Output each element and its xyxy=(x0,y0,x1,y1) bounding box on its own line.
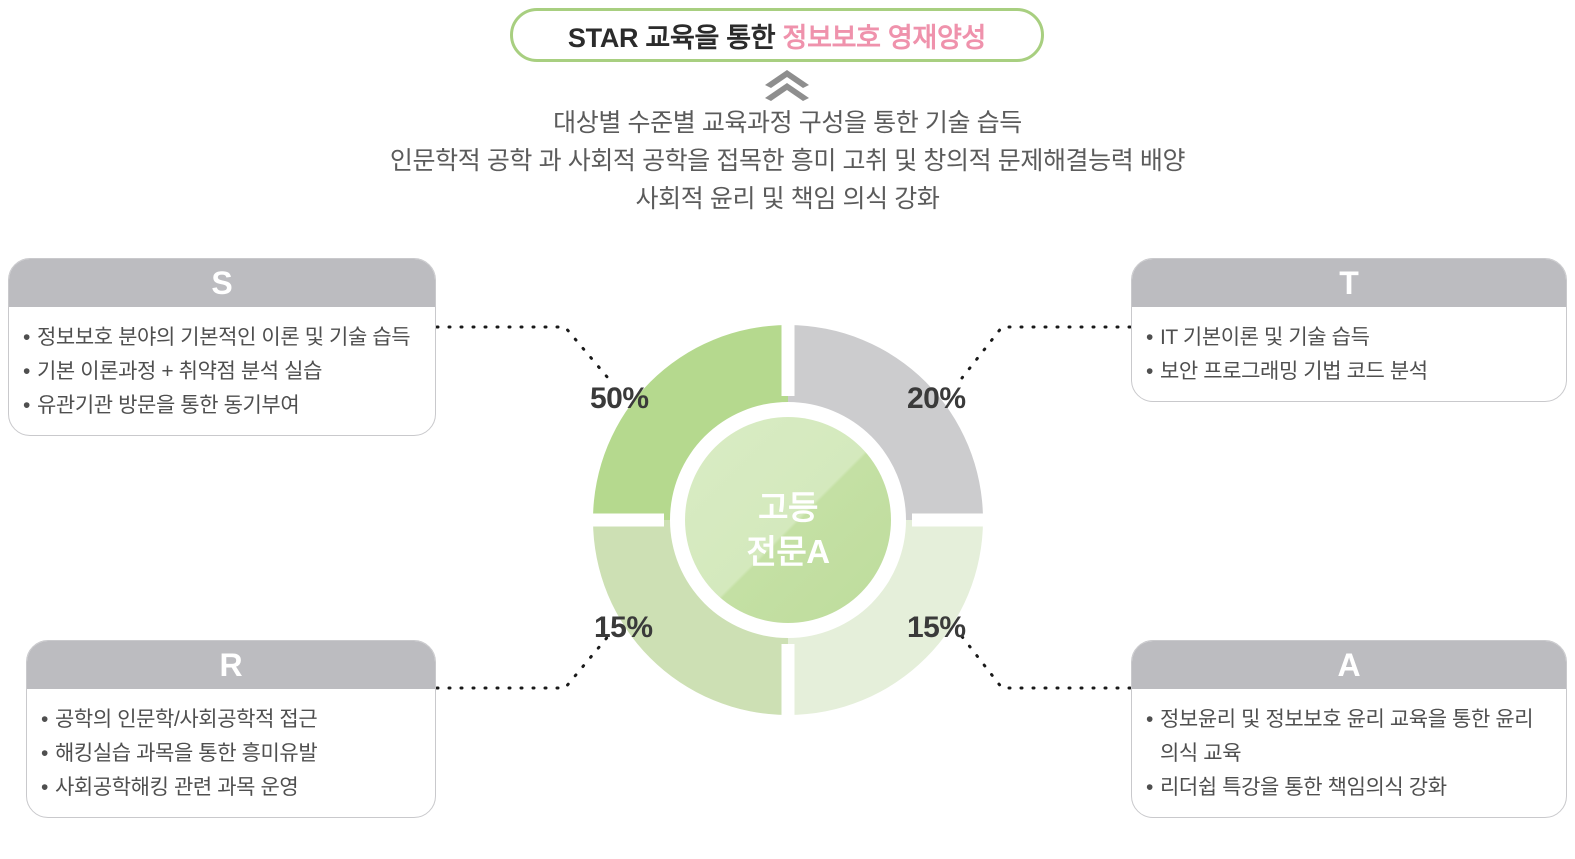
list-item: • 기본 이론과정 + 취약점 분석 실습 xyxy=(23,355,419,389)
donut-label-top-left: 50% xyxy=(590,382,649,416)
list-item: • 해킹실습 과목을 통한 흥미유발 xyxy=(41,737,419,771)
card-a-body: • 정보윤리 및 정보보호 윤리 교육을 통한 윤리의식 교육 • 리더쉽 특강… xyxy=(1132,689,1566,817)
card-s-bullet-3: 유관기관 방문을 통한 동기부여 xyxy=(37,389,419,423)
donut-center-line-1: 고등 xyxy=(688,486,888,530)
donut-center-line-2: 전문A xyxy=(688,530,888,574)
donut-label-bottom-right: 15% xyxy=(907,611,966,645)
chevron-up-double-icon xyxy=(762,68,812,102)
card-s-header: S xyxy=(9,259,435,307)
page-title-primary: STAR 교육을 통한 xyxy=(568,23,783,53)
list-item: • 유관기관 방문을 통한 동기부여 xyxy=(23,389,419,423)
page-title-highlight: 정보보호 영재양성 xyxy=(783,23,987,53)
bullet-icon: • xyxy=(1146,703,1160,737)
list-item: • 공학의 인문학/사회공학적 접근 xyxy=(41,703,419,737)
card-r-bullet-3: 사회공학해킹 관련 과목 운영 xyxy=(55,771,419,805)
donut-label-top-right: 20% xyxy=(907,382,966,416)
card-s-bullet-2: 기본 이론과정 + 취약점 분석 실습 xyxy=(37,355,419,389)
card-s-letter: S xyxy=(211,267,232,299)
bullet-icon: • xyxy=(23,321,37,355)
subtitle-line-3: 사회적 윤리 및 책임 의식 강화 xyxy=(0,180,1575,218)
card-t-bullet-2: 보안 프로그래밍 기법 코드 분석 xyxy=(1160,355,1550,389)
list-item: • IT 기본이론 및 기술 습득 xyxy=(1146,321,1550,355)
card-t-header: T xyxy=(1132,259,1566,307)
card-a[interactable]: A • 정보윤리 및 정보보호 윤리 교육을 통한 윤리의식 교육 • 리더쉽 … xyxy=(1131,640,1567,818)
bullet-icon: • xyxy=(1146,355,1160,389)
card-a-header: A xyxy=(1132,641,1566,689)
card-a-letter: A xyxy=(1337,649,1360,681)
card-t[interactable]: T • IT 기본이론 및 기술 습득 • 보안 프로그래밍 기법 코드 분석 xyxy=(1131,258,1567,402)
bullet-icon: • xyxy=(41,737,55,771)
card-r-letter: R xyxy=(219,649,242,681)
card-a-bullet-1: 정보윤리 및 정보보호 윤리 교육을 통한 윤리의식 교육 xyxy=(1160,703,1550,771)
bullet-icon: • xyxy=(23,389,37,423)
card-r-header: R xyxy=(27,641,435,689)
card-s-body: • 정보보호 분야의 기본적인 이론 및 기술 습득 • 기본 이론과정 + 취… xyxy=(9,307,435,435)
subtitle-line-2: 인문학적 공학 과 사회적 공학을 접목한 흥미 고취 및 창의적 문제해결능력… xyxy=(0,142,1575,180)
bullet-icon: • xyxy=(23,355,37,389)
card-r-bullet-2: 해킹실습 과목을 통한 흥미유발 xyxy=(55,737,419,771)
list-item: • 리더쉽 특강을 통한 책임의식 강화 xyxy=(1146,771,1550,805)
list-item: • 사회공학해킹 관련 과목 운영 xyxy=(41,771,419,805)
subtitle-block: 대상별 수준별 교육과정 구성을 통한 기술 습득 인문학적 공학 과 사회적 … xyxy=(0,104,1575,218)
list-item: • 보안 프로그래밍 기법 코드 분석 xyxy=(1146,355,1550,389)
card-t-letter: T xyxy=(1339,267,1359,299)
subtitle-line-1: 대상별 수준별 교육과정 구성을 통한 기술 습득 xyxy=(0,104,1575,142)
card-t-body: • IT 기본이론 및 기술 습득 • 보안 프로그래밍 기법 코드 분석 xyxy=(1132,307,1566,401)
card-t-bullet-1: IT 기본이론 및 기술 습득 xyxy=(1160,321,1550,355)
card-s-bullet-1: 정보보호 분야의 기본적인 이론 및 기술 습득 xyxy=(37,321,419,355)
page-title: STAR 교육을 통한 정보보호 영재양성 xyxy=(568,16,986,55)
card-a-bullet-2: 리더쉽 특강을 통한 책임의식 강화 xyxy=(1160,771,1550,805)
bullet-icon: • xyxy=(1146,321,1160,355)
donut-label-bottom-left: 15% xyxy=(594,611,653,645)
bullet-icon: • xyxy=(41,703,55,737)
list-item: • 정보보호 분야의 기본적인 이론 및 기술 습득 xyxy=(23,321,419,355)
card-s[interactable]: S • 정보보호 분야의 기본적인 이론 및 기술 습득 • 기본 이론과정 +… xyxy=(8,258,436,436)
bullet-icon: • xyxy=(1146,771,1160,805)
bullet-icon: • xyxy=(41,771,55,805)
card-r-bullet-1: 공학의 인문학/사회공학적 접근 xyxy=(55,703,419,737)
card-r[interactable]: R • 공학의 인문학/사회공학적 접근 • 해킹실습 과목을 통한 흥미유발 … xyxy=(26,640,436,818)
donut-center-label: 고등 전문A xyxy=(688,486,888,574)
page-title-banner: STAR 교육을 통한 정보보호 영재양성 xyxy=(510,8,1044,62)
list-item: • 정보윤리 및 정보보호 윤리 교육을 통한 윤리의식 교육 xyxy=(1146,703,1550,771)
card-r-body: • 공학의 인문학/사회공학적 접근 • 해킹실습 과목을 통한 흥미유발 • … xyxy=(27,689,435,817)
